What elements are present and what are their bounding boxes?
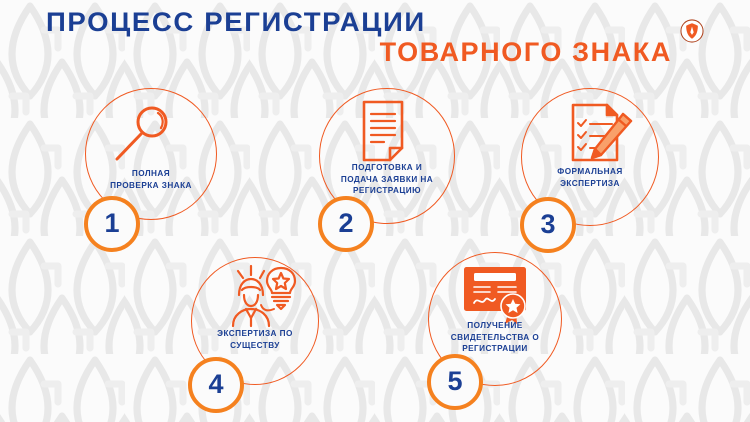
infographic-canvas: ПРОЦЕСС РЕГИСТРАЦИИ ТОВАРНОГО ЗНАКА ПОЛН… (0, 0, 750, 422)
infographic-title: ПРОЦЕСС РЕГИСТРАЦИИ ТОВАРНОГО ЗНАКА (0, 8, 690, 67)
step-5-label: ПОЛУЧЕНИЕ СВИДЕТЕЛЬСТВА О РЕГИСТРАЦИИ (426, 320, 564, 355)
step-5-badge[interactable]: 5 (427, 354, 483, 410)
title-line-primary: ПРОЦЕСС РЕГИСТРАЦИИ (46, 8, 703, 36)
certificate-seal-icon (460, 262, 538, 328)
title-line-secondary: ТОВАРНОГО ЗНАКА (0, 38, 690, 66)
shield-logo-icon (679, 18, 705, 44)
